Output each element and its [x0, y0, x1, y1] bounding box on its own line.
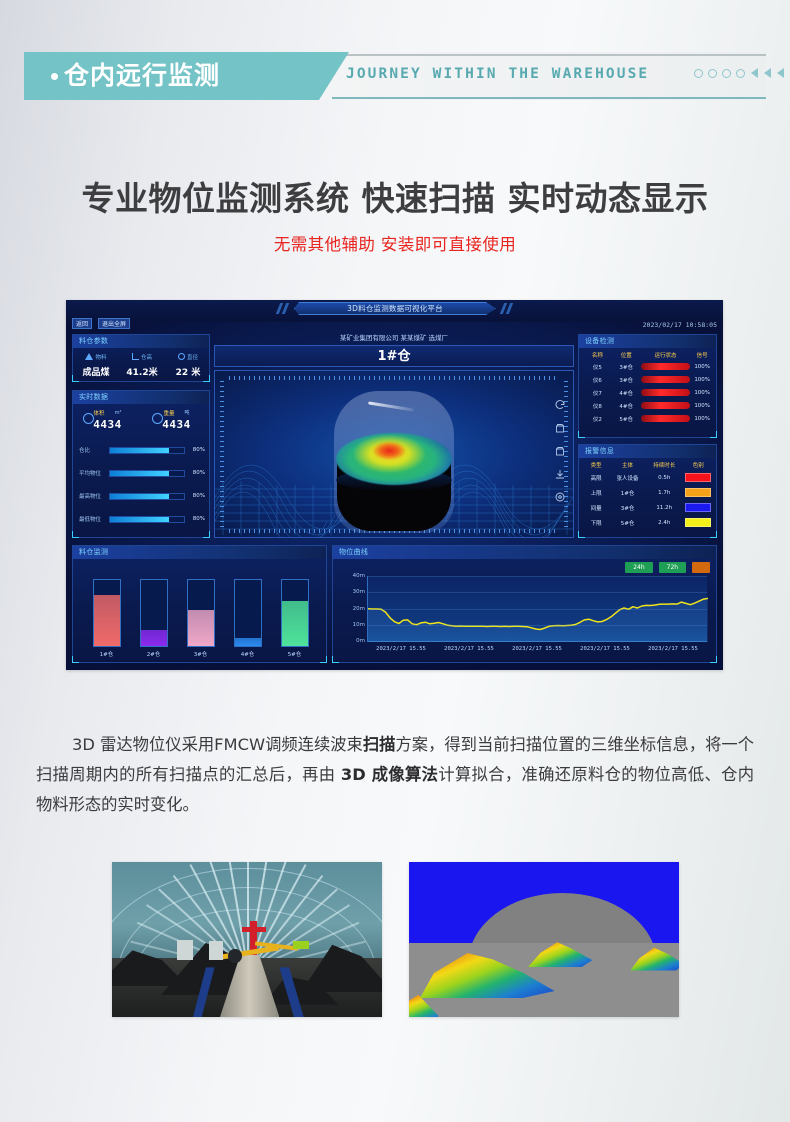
table-row: 仪74#仓100% [579, 386, 718, 399]
warehouse-door [177, 940, 193, 960]
panel-corner-deco [710, 431, 717, 438]
silo-monitor-chart-title: 料仓监测 [73, 546, 326, 559]
table-row: 仪84#仓100% [579, 399, 718, 412]
level-curve-chart-title: 物位曲线 [333, 546, 716, 559]
gauge-unit: 吨 [185, 409, 190, 416]
alarm-duration: 2.4h [646, 520, 683, 526]
stat-label: 物料 [95, 353, 106, 361]
reset-icon[interactable] [554, 445, 566, 457]
circle-icon [736, 69, 745, 78]
bar-percent: 80% [189, 470, 205, 476]
circle-icon [722, 69, 731, 78]
status-badge [685, 503, 711, 512]
silo-bar-track [187, 579, 215, 647]
gridline [368, 641, 707, 642]
material-heatmap-surface [336, 433, 452, 485]
gauge-volume: 体积 m³ 4434 [73, 407, 142, 439]
page-header-banner: 仓内远行监测 JOURNEY WITHIN THE WAREHOUSE [24, 52, 766, 100]
alarm-color-cell [683, 518, 714, 527]
silo-bar-track [93, 579, 121, 647]
x-axis-tick: 2023/2/17 15.55 [580, 646, 630, 652]
device-signal: 100% [690, 403, 714, 409]
y-axis-tick: 0m [356, 638, 365, 644]
bar-track [109, 516, 185, 523]
silo-bar-fill [282, 601, 308, 646]
column-header: 类型 [583, 461, 609, 469]
device-name: 仪6 [583, 376, 612, 384]
device-status-bar [641, 389, 691, 396]
silo-bar-fill [188, 610, 214, 646]
banner-decoration [694, 68, 790, 78]
ruler-left [220, 381, 224, 529]
x-axis-tick: 2023/2/17 15.55 [512, 646, 562, 652]
gridline [368, 576, 707, 577]
table-header-row: 名称位置运行状态信号 [579, 349, 718, 360]
column-header: 位置 [612, 351, 641, 359]
machine-cabin [293, 941, 309, 949]
silo-bar-track [281, 579, 309, 647]
bar-fill [110, 448, 169, 453]
level-curve-chart: 24h72h 0m10m20m30m40m 2023/2/17 15.55202… [333, 560, 718, 664]
device-position: 5#仓 [612, 415, 641, 423]
bar-fill [110, 494, 169, 499]
circle-icon [708, 69, 717, 78]
body-paragraph: 3D 雷达物位仪采用FMCW调频连续波束扫描方案，得到当前扫描位置的三维坐标信息… [36, 730, 754, 820]
dashboard-title: 3D料仓监测数据可视化平台 [294, 302, 496, 315]
para-bold-1: 扫描 [363, 735, 396, 754]
gauge-label: 重量 [163, 409, 174, 417]
gridline [368, 625, 707, 626]
bar-fill [110, 471, 169, 476]
stat-value: 41.2米 [119, 365, 165, 378]
alarm-subject: 1#仓 [609, 489, 646, 497]
silo-params-stats: 物料 成品煤 仓高 41.2米 直径 22 米 [73, 350, 211, 383]
time-range-button[interactable] [692, 562, 710, 573]
gauge-label: 体积 [94, 409, 105, 417]
silo-bar-label: 5#仓 [281, 650, 309, 658]
device-check-panel: 设备检测 名称位置运行状态信号 仪53#仓100%仪63#仓100%仪74#仓1… [578, 334, 717, 438]
level-bar-row: 仓比80% [79, 445, 205, 455]
triangle-left-icon [777, 68, 784, 78]
level-curve-plot-area: 0m10m20m30m40m [367, 576, 707, 642]
device-status-bar [641, 402, 691, 409]
viewport-toolbar[interactable] [554, 399, 566, 503]
table-row: 仪53#仓100% [579, 360, 718, 373]
silo-monitor-chart-panel: 料仓监测 1#仓2#仓3#仓4#仓5#仓 [72, 545, 327, 663]
status-bar-fill [641, 415, 691, 422]
dashboard-nav-buttons: 返回 退出全屏 [66, 318, 723, 332]
volume-icon [83, 413, 94, 424]
alarm-subject: 3#仓 [609, 504, 646, 512]
column-header: 色别 [683, 461, 714, 469]
alarm-info-title: 报警信息 [579, 445, 716, 458]
level-bar-row: 最高物位80% [79, 491, 205, 501]
x-axis-tick: 2023/2/17 15.55 [648, 646, 698, 652]
alarm-type: 高限 [583, 474, 609, 482]
panel-corner-deco [320, 656, 327, 663]
status-badge [685, 473, 711, 482]
time-range-buttons[interactable]: 24h72h [625, 562, 710, 573]
panel-corner-deco [710, 656, 717, 663]
silo-bar-label: 2#仓 [140, 650, 168, 658]
silo-bar-item: 5#仓 [281, 579, 309, 658]
table-row: 下限5#仓2.4h [579, 515, 718, 530]
alarm-color-cell [683, 473, 714, 482]
device-status-bar [641, 363, 691, 370]
silo-bar-label: 4#仓 [234, 650, 262, 658]
table-body: 高限张人设备0.5h上限1#仓1.7h间量3#仓11.2h下限5#仓2.4h [579, 470, 718, 530]
column-header: 运行状态 [641, 351, 691, 359]
silo-bar-fill [94, 595, 120, 646]
status-badge [685, 518, 711, 527]
column-header: 名称 [583, 351, 612, 359]
silo-3d-model [334, 391, 454, 533]
time-range-button[interactable]: 24h [625, 562, 652, 573]
stacker-head [242, 927, 266, 932]
radar-point-cloud-render [409, 862, 679, 1017]
table-row: 上限1#仓1.7h [579, 485, 718, 500]
device-status-bar [641, 415, 691, 422]
panel-corner-deco [578, 431, 585, 438]
target-icon[interactable] [554, 491, 566, 503]
page-subtitle: 无需其他辅助 安装即可直接使用 [0, 231, 790, 255]
realtime-gauges: 体积 m³ 4434 重量 吨 4434 [73, 407, 211, 439]
level-bar-row: 平均物位80% [79, 468, 205, 478]
realtime-data-panel: 实时数据 体积 m³ 4434 重量 吨 4434 仓比80%平均物位80%最高… [72, 390, 210, 538]
device-signal: 100% [690, 364, 714, 370]
panel-corner-deco [72, 531, 79, 538]
bar-fill [110, 517, 169, 522]
alarm-subject: 张人设备 [609, 474, 646, 482]
device-name: 仪8 [583, 402, 612, 410]
silo-bar-fill [235, 638, 261, 646]
y-axis-tick: 40m [353, 573, 365, 579]
alarm-type: 间量 [583, 504, 609, 512]
warehouse-door [209, 941, 223, 960]
back-button[interactable]: 返回 [72, 318, 92, 329]
banner-divider-top [324, 54, 766, 56]
silo-bar-item: 2#仓 [140, 579, 168, 658]
status-bar-fill [641, 376, 691, 383]
bar-track [109, 447, 185, 454]
status-bar-fill [641, 363, 691, 370]
dot-icon [51, 73, 58, 80]
silo-bar-label: 1#仓 [93, 650, 121, 658]
weight-icon [152, 413, 163, 424]
y-axis-tick: 10m [353, 622, 365, 628]
dashboard-screenshot: 3D料仓监测数据可视化平台 2023/02/17 10:58:05 返回 退出全… [66, 300, 723, 670]
bar-percent: 80% [189, 516, 205, 522]
silo-bar-label: 3#仓 [187, 650, 215, 658]
bar-track [109, 493, 185, 500]
bar-percent: 80% [189, 493, 205, 499]
column-header: 主体 [609, 461, 646, 469]
device-status-bar [641, 376, 691, 383]
alarm-color-cell [683, 503, 714, 512]
bar-label: 最低物位 [79, 515, 105, 523]
bucket-wheel [228, 949, 242, 963]
download-icon[interactable] [554, 468, 566, 480]
silo-bar-item: 4#仓 [234, 579, 262, 658]
x-axis-tick: 2023/2/17 15.55 [444, 646, 494, 652]
level-curve-chart-panel: 物位曲线 24h72h 0m10m20m30m40m 2023/2/17 15.… [332, 545, 717, 663]
diameter-icon [178, 353, 185, 360]
stat-value: 成品煤 [73, 365, 119, 378]
device-position: 3#仓 [612, 376, 641, 384]
y-axis-tick: 20m [353, 606, 365, 612]
panel-corner-deco [203, 531, 210, 538]
stat-material: 物料 成品煤 [73, 350, 119, 383]
stat-label: 直径 [187, 353, 198, 361]
panel-corner-deco [72, 375, 79, 382]
table-row: 高限张人设备0.5h [579, 470, 718, 485]
coal-warehouse-interior-photo [112, 862, 382, 1017]
alarm-color-cell [683, 488, 714, 497]
level-bar-row: 最低物位80% [79, 514, 205, 524]
gridline [368, 592, 707, 593]
device-signal: 100% [690, 390, 714, 396]
bar-label: 平均物位 [79, 469, 105, 477]
exit-fullscreen-button[interactable]: 退出全屏 [98, 318, 130, 329]
alarm-subject: 5#仓 [609, 519, 646, 527]
banner-divider-bottom [332, 97, 766, 99]
para-seg-1: 3D 雷达物位仪采用FMCW调频连续波束 [72, 735, 363, 754]
gauge-unit: m³ [115, 410, 122, 416]
bar-label: 最高物位 [79, 492, 105, 500]
alarm-info-panel: 报警信息 类型主体持续时长色别 高限张人设备0.5h上限1#仓1.7h间量3#仓… [578, 444, 717, 538]
panel-corner-deco [332, 656, 339, 663]
alarm-type: 上限 [583, 489, 609, 497]
silo-bar-fill [141, 630, 167, 647]
gauge-weight: 重量 吨 4434 [142, 407, 211, 439]
device-name: 仪7 [583, 389, 612, 397]
silo-bar-track [140, 579, 168, 647]
y-axis-tick: 30m [353, 589, 365, 595]
x-axis-tick: 2023/2/17 15.55 [376, 646, 426, 652]
silo-level-bar-chart: 1#仓2#仓3#仓4#仓5#仓 [83, 566, 318, 658]
ruler-top [229, 376, 559, 380]
triangle-left-icon [751, 68, 758, 78]
panel-corner-deco [578, 531, 585, 538]
time-range-button[interactable]: 72h [659, 562, 686, 573]
silo-bar-item: 3#仓 [187, 579, 215, 658]
alarm-table: 类型主体持续时长色别 高限张人设备0.5h上限1#仓1.7h间量3#仓11.2h… [579, 459, 718, 530]
banner-title-cn: 仓内远行监测 [64, 59, 220, 93]
column-header: 持续时长 [646, 461, 683, 469]
panel-corner-deco [72, 656, 79, 663]
panel-corner-deco [203, 375, 210, 382]
status-bar-fill [641, 402, 691, 409]
company-name: 某矿业集团有限公司 某某煤矿 选煤厂 [214, 333, 574, 344]
table-header-row: 类型主体持续时长色别 [579, 459, 718, 470]
status-badge [685, 488, 711, 497]
height-icon [132, 353, 139, 360]
level-curve-x-axis: 2023/2/17 15.552023/2/17 15.552023/2/17 … [367, 646, 707, 652]
bar-label: 仓比 [79, 446, 105, 454]
para-bold-2: 3D 成像算法 [341, 765, 438, 784]
device-check-table: 名称位置运行状态信号 仪53#仓100%仪63#仓100%仪74#仓100%仪8… [579, 349, 718, 425]
stat-label: 仓高 [141, 353, 152, 361]
device-position: 3#仓 [612, 363, 641, 371]
banner-title-en: JOURNEY WITHIN THE WAREHOUSE [346, 66, 649, 82]
table-body: 仪53#仓100%仪63#仓100%仪74#仓100%仪84#仓100%仪25#… [579, 360, 718, 425]
silo-bar-item: 1#仓 [93, 579, 121, 658]
device-position: 4#仓 [612, 402, 641, 410]
status-bar-fill [641, 389, 691, 396]
circle-icon [694, 69, 703, 78]
material-icon [85, 353, 93, 360]
rotate-icon[interactable] [554, 422, 566, 434]
current-silo-name: 1#仓 [214, 345, 574, 367]
device-position: 4#仓 [612, 389, 641, 397]
refresh-icon[interactable] [554, 399, 566, 411]
device-signal: 100% [690, 416, 714, 422]
silo-bar-track [234, 579, 262, 647]
stat-height: 仓高 41.2米 [119, 350, 165, 383]
page-title: 专业物位监测系统 快速扫描 实时动态显示 [0, 172, 790, 220]
gridline [368, 609, 707, 610]
alarm-duration: 0.5h [646, 475, 683, 481]
table-row: 仪63#仓100% [579, 373, 718, 386]
column-header: 信号 [690, 351, 714, 359]
device-name: 仪5 [583, 363, 612, 371]
panel-corner-deco [710, 531, 717, 538]
table-row: 间量3#仓11.2h [579, 500, 718, 515]
alarm-duration: 1.7h [646, 490, 683, 496]
silo-3d-viewport[interactable] [214, 370, 574, 538]
table-row: 仪25#仓100% [579, 412, 718, 425]
alarm-type: 下限 [583, 519, 609, 527]
bar-track [109, 470, 185, 477]
device-signal: 100% [690, 377, 714, 383]
alarm-duration: 11.2h [646, 505, 683, 511]
bar-percent: 80% [189, 447, 205, 453]
realtime-data-title: 实时数据 [73, 391, 209, 404]
silo-params-panel: 料仓参数 物料 成品煤 仓高 41.2米 直径 22 米 [72, 334, 210, 382]
triangle-left-icon [764, 68, 771, 78]
silo-params-title: 料仓参数 [73, 335, 209, 348]
device-name: 仪2 [583, 415, 612, 423]
device-check-title: 设备检测 [579, 335, 716, 348]
